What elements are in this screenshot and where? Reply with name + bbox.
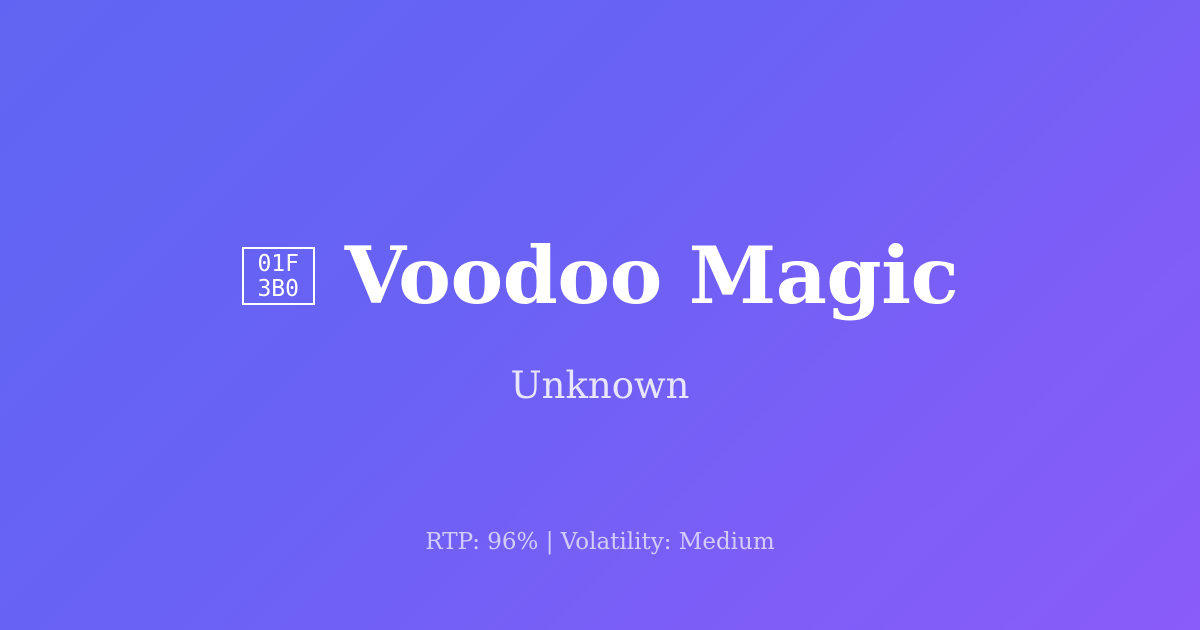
page-title: Voodoo Magic	[345, 228, 959, 324]
slot-machine-tofu-icon: 01F 3B0	[242, 247, 315, 305]
tofu-codepoint-top: 01F	[257, 252, 299, 277]
game-meta-line: RTP: 96% | Volatility: Medium	[0, 527, 1200, 557]
game-provider-label: Unknown	[0, 362, 1200, 410]
game-promo-card: 01F 3B0 Voodoo Magic Unknown RTP: 96% | …	[0, 0, 1200, 630]
title-row: 01F 3B0 Voodoo Magic	[0, 228, 1200, 324]
tofu-codepoint-bottom: 3B0	[257, 277, 299, 302]
